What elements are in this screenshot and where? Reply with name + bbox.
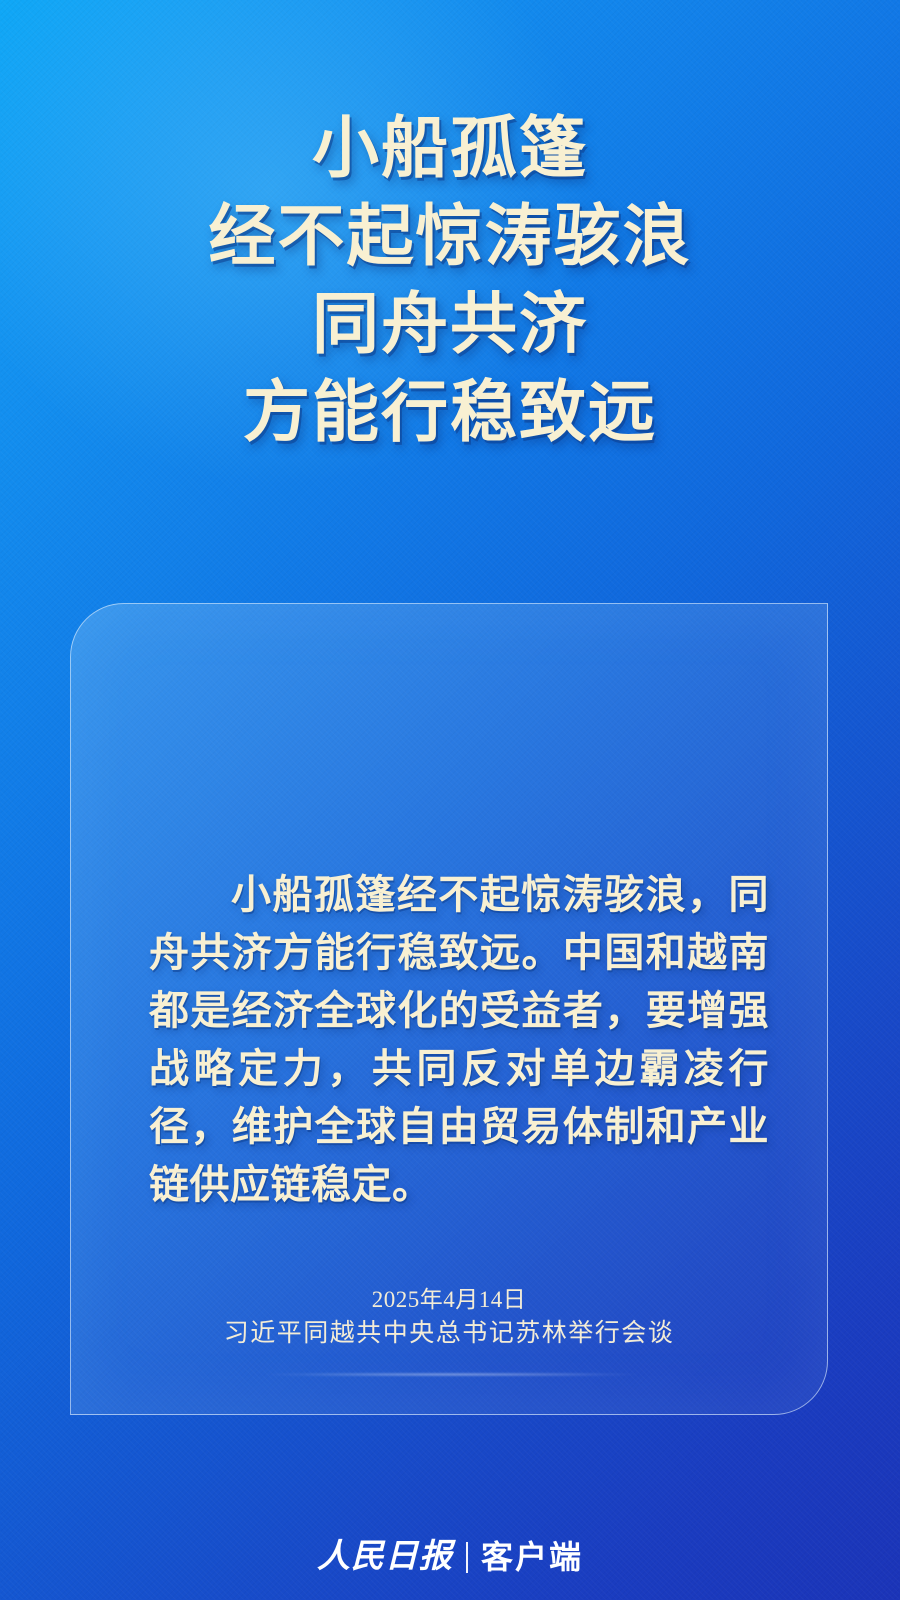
poster-root: 小船孤篷 经不起惊涛骇浪 同舟共济 方能行稳致远 小船孤篷经不起惊涛骇浪，同舟共…: [0, 0, 900, 1600]
logo-divider: [466, 1542, 468, 1573]
quote-body: 小船孤篷经不起惊涛骇浪，同舟共济方能行稳致远。中国和越南都是经济全球化的受益者，…: [149, 826, 769, 1254]
headline-line-1: 小船孤篷: [0, 104, 900, 192]
headline-block: 小船孤篷 经不起惊涛骇浪 同舟共济 方能行稳致远: [0, 104, 900, 456]
attribution-block: 2025年4月14日 习近平同越共中央总书记苏林举行会谈: [71, 1283, 827, 1352]
quote-card: 小船孤篷经不起惊涛骇浪，同舟共济方能行稳致远。中国和越南都是经济全球化的受益者，…: [70, 603, 828, 1415]
headline-line-3: 同舟共济: [0, 280, 900, 368]
attribution-date: 2025年4月14日: [71, 1283, 827, 1316]
footer-logo: 人民日报 客户端: [0, 1537, 900, 1577]
card-light-streak: [201, 1373, 701, 1376]
quote-text: 小船孤篷经不起惊涛骇浪，同舟共济方能行稳致远。中国和越南都是经济全球化的受益者，…: [149, 866, 769, 1214]
attribution-event: 习近平同越共中央总书记苏林举行会谈: [71, 1316, 827, 1352]
headline-line-4: 方能行稳致远: [0, 368, 900, 456]
headline-line-2: 经不起惊涛骇浪: [0, 192, 900, 280]
client-app-label: 客户端: [481, 1537, 583, 1577]
peoples-daily-logo: 人民日报: [317, 1537, 453, 1577]
